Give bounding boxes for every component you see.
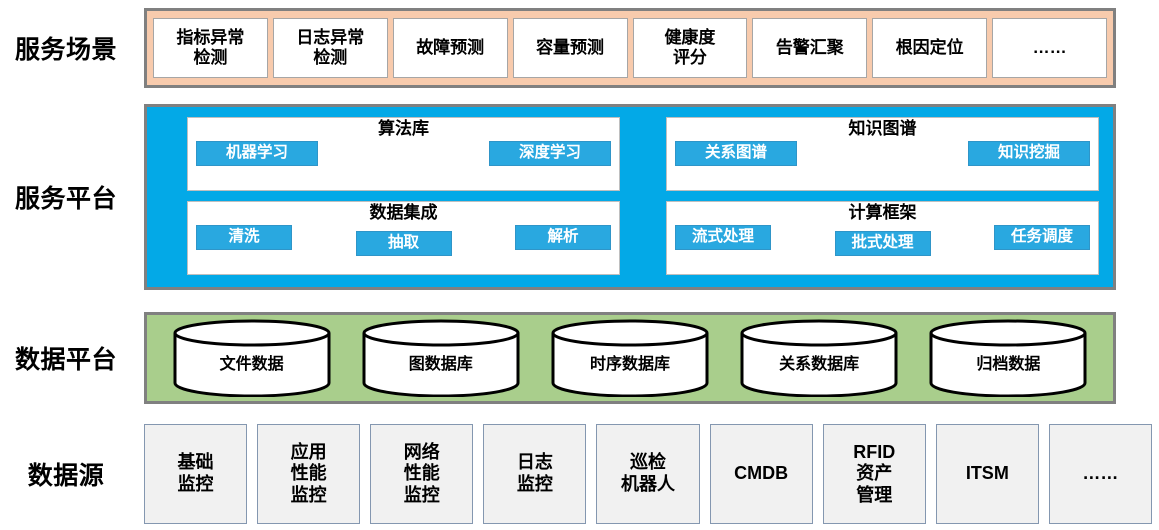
source-box-log-monitoring[interactable]: 日志 监控 bbox=[483, 424, 586, 524]
scene-box-alert-aggregation[interactable]: 告警汇聚 bbox=[752, 18, 867, 78]
architecture-diagram: 服务场景 指标异常 检测 日志异常 检测 故障预测 容量预测 健康度 评分 告警… bbox=[0, 0, 1159, 530]
panel-title-algorithm-library: 算法库 bbox=[378, 120, 429, 139]
panel-knowledge-graph[interactable]: 知识图谱 关系图谱 知识挖掘 bbox=[666, 117, 1099, 191]
data-store-label: 图数据库 bbox=[361, 319, 521, 397]
source-box-cmdb[interactable]: CMDB bbox=[710, 424, 813, 524]
chip-task-scheduling[interactable]: 任务调度 bbox=[994, 225, 1090, 250]
panel-title-knowledge-graph: 知识图谱 bbox=[849, 120, 917, 139]
data-store-graph-database[interactable]: 图数据库 bbox=[361, 319, 521, 397]
panel-data-integration[interactable]: 数据集成 清洗 抽取 解析 bbox=[187, 201, 620, 275]
scene-box-metric-anomaly-detection[interactable]: 指标异常 检测 bbox=[153, 18, 268, 78]
source-box-network-performance-monitoring[interactable]: 网络 性能 监控 bbox=[370, 424, 473, 524]
scene-box-fault-prediction[interactable]: 故障预测 bbox=[393, 18, 508, 78]
scene-box-root-cause-localization[interactable]: 根因定位 bbox=[872, 18, 987, 78]
chip-stream-processing[interactable]: 流式处理 bbox=[675, 225, 771, 250]
chip-machine-learning[interactable]: 机器学习 bbox=[196, 141, 318, 166]
chip-cleansing[interactable]: 清洗 bbox=[196, 225, 292, 250]
chip-row-compute-framework: 流式处理 批式处理 任务调度 bbox=[667, 225, 1098, 254]
row-label-data-platform: 数据平台 bbox=[0, 310, 132, 406]
data-store-relational-database[interactable]: 关系数据库 bbox=[739, 319, 899, 397]
source-box-more[interactable]: …… bbox=[1049, 424, 1152, 524]
service-platform-band: 算法库 机器学习 深度学习 知识图谱 关系图谱 知识挖掘 数据集成 清洗 bbox=[144, 104, 1116, 290]
data-store-file-data[interactable]: 文件数据 bbox=[172, 319, 332, 397]
scene-box-more[interactable]: …… bbox=[992, 18, 1107, 78]
source-box-rfid-asset-management[interactable]: RFID 资产 管理 bbox=[823, 424, 926, 524]
chip-deep-learning[interactable]: 深度学习 bbox=[489, 141, 611, 166]
chip-extraction[interactable]: 抽取 bbox=[356, 231, 452, 256]
chip-row-algorithm-library: 机器学习 深度学习 bbox=[188, 141, 619, 170]
data-store-label: 关系数据库 bbox=[739, 319, 899, 397]
service-scene-band: 指标异常 检测 日志异常 检测 故障预测 容量预测 健康度 评分 告警汇聚 根因… bbox=[144, 8, 1116, 88]
data-store-label: 时序数据库 bbox=[550, 319, 710, 397]
panel-title-data-integration: 数据集成 bbox=[370, 204, 438, 223]
row-label-service-platform: 服务平台 bbox=[0, 102, 132, 292]
scene-box-health-score[interactable]: 健康度 评分 bbox=[633, 18, 748, 78]
source-box-itsm[interactable]: ITSM bbox=[936, 424, 1039, 524]
data-store-label: 归档数据 bbox=[928, 319, 1088, 397]
service-scene-track: 指标异常 检测 日志异常 检测 故障预测 容量预测 健康度 评分 告警汇聚 根因… bbox=[147, 11, 1113, 85]
chip-knowledge-mining[interactable]: 知识挖掘 bbox=[968, 141, 1090, 166]
data-store-label: 文件数据 bbox=[172, 319, 332, 397]
chip-row-data-integration: 清洗 抽取 解析 bbox=[188, 225, 619, 254]
row-label-data-source: 数据源 bbox=[0, 424, 132, 524]
data-store-track: 文件数据 图数据库 时序数据库 bbox=[147, 315, 1113, 401]
data-platform-band: 文件数据 图数据库 时序数据库 bbox=[144, 312, 1116, 404]
source-box-application-performance-monitoring[interactable]: 应用 性能 监控 bbox=[257, 424, 360, 524]
panel-algorithm-library[interactable]: 算法库 机器学习 深度学习 bbox=[187, 117, 620, 191]
row-label-service-scene: 服务场景 bbox=[0, 6, 132, 90]
chip-batch-processing[interactable]: 批式处理 bbox=[835, 231, 931, 256]
chip-relation-graph[interactable]: 关系图谱 bbox=[675, 141, 797, 166]
source-box-inspection-robot[interactable]: 巡检 机器人 bbox=[596, 424, 699, 524]
scene-box-log-anomaly-detection[interactable]: 日志异常 检测 bbox=[273, 18, 388, 78]
data-source-track: 基础 监控 应用 性能 监控 网络 性能 监控 日志 监控 巡检 机器人 CMD… bbox=[144, 424, 1152, 524]
service-platform-grid: 算法库 机器学习 深度学习 知识图谱 关系图谱 知识挖掘 数据集成 清洗 bbox=[147, 107, 1113, 287]
chip-parsing[interactable]: 解析 bbox=[515, 225, 611, 250]
source-box-infrastructure-monitoring[interactable]: 基础 监控 bbox=[144, 424, 247, 524]
data-store-archive-data[interactable]: 归档数据 bbox=[928, 319, 1088, 397]
scene-box-capacity-prediction[interactable]: 容量预测 bbox=[513, 18, 628, 78]
panel-compute-framework[interactable]: 计算框架 流式处理 批式处理 任务调度 bbox=[666, 201, 1099, 275]
chip-row-knowledge-graph: 关系图谱 知识挖掘 bbox=[667, 141, 1098, 170]
panel-title-compute-framework: 计算框架 bbox=[849, 204, 917, 223]
data-store-timeseries-database[interactable]: 时序数据库 bbox=[550, 319, 710, 397]
